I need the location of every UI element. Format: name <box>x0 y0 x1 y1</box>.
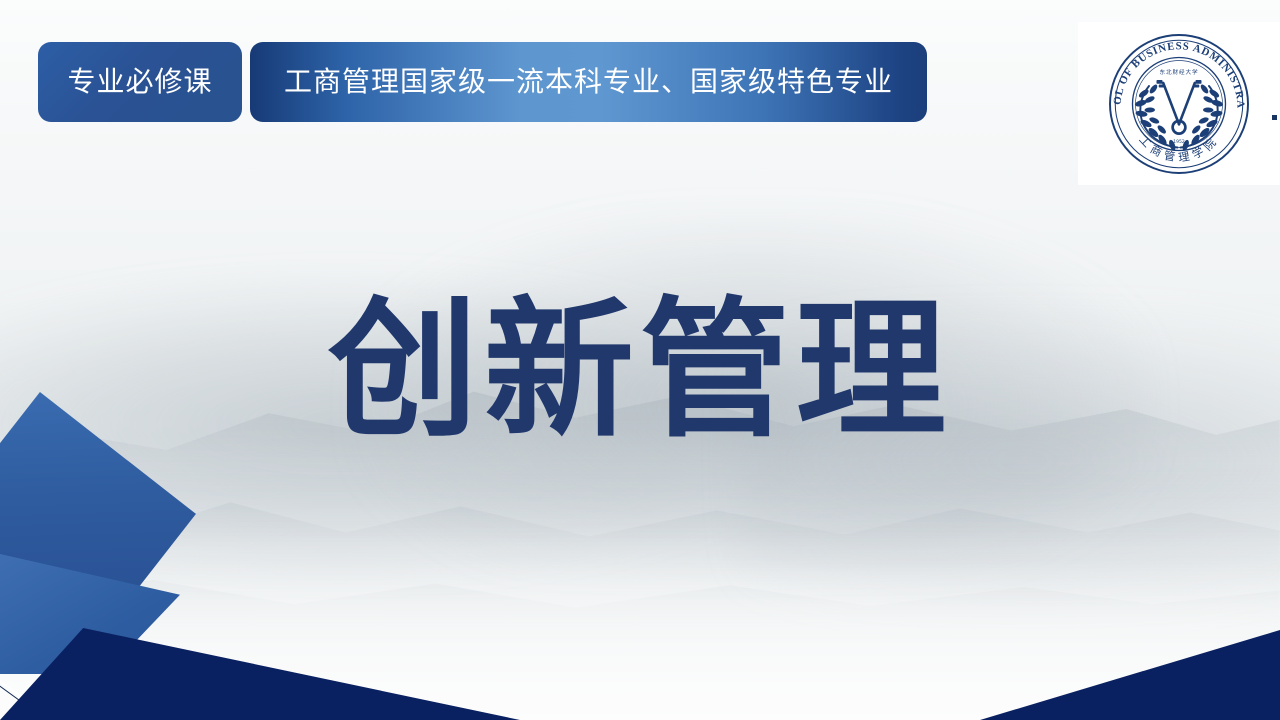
school-seal-icon: SCHOOL OF BUSINESS ADMINISTRATION 工商管理学院… <box>1104 29 1254 179</box>
slide-title: 创新管理 <box>0 296 1280 446</box>
svg-text:1952: 1952 <box>1173 139 1185 145</box>
header-banner: 专业必修课 工商管理国家级一流本科专业、国家级特色专业 <box>38 42 927 122</box>
edge-mark-dot <box>1272 115 1277 120</box>
program-accreditation-banner: 工商管理国家级一流本科专业、国家级特色专业 <box>250 42 927 122</box>
school-logo-card: SCHOOL OF BUSINESS ADMINISTRATION 工商管理学院… <box>1078 22 1280 185</box>
course-type-badge: 专业必修课 <box>38 42 242 122</box>
presentation-slide: 专业必修课 工商管理国家级一流本科专业、国家级特色专业 SCHOOL OF BU… <box>0 0 1280 720</box>
